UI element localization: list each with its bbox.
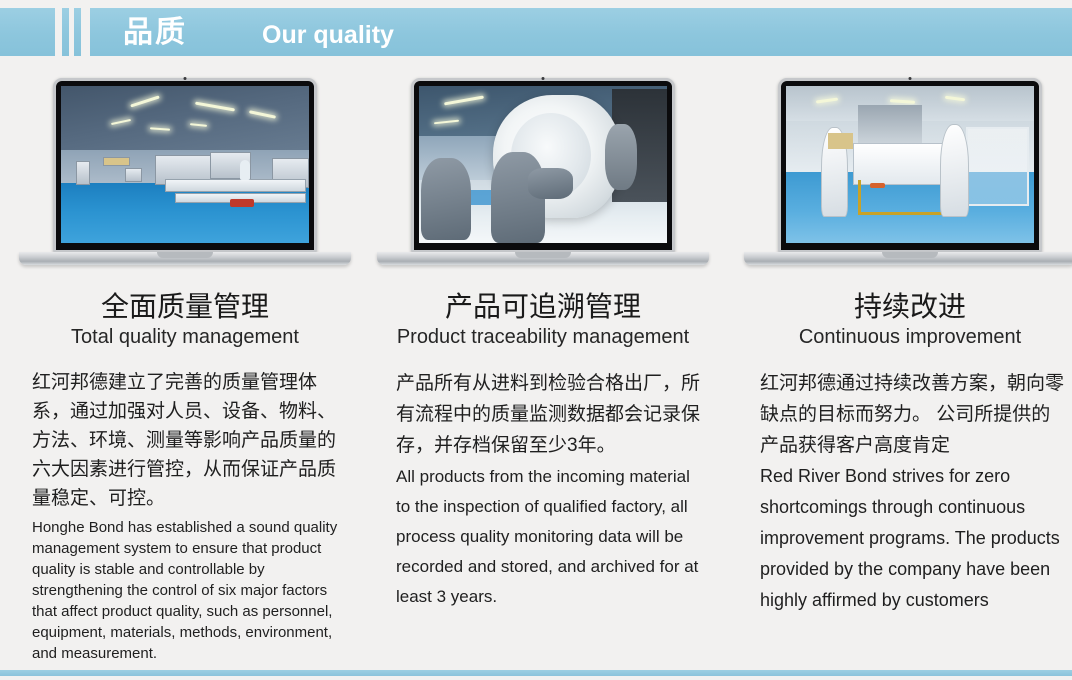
card-body-english-3: Red River Bond strives for zero shortcom…	[748, 461, 1072, 616]
card-title-english-2: Product traceability management	[376, 324, 710, 350]
laptop-base-2	[377, 252, 709, 265]
photo-cleanroom-production-line	[61, 86, 309, 243]
bottom-accent-strip	[0, 670, 1072, 676]
laptop-notch-3	[882, 252, 938, 258]
header-accent-block-left	[0, 8, 55, 56]
photo-cleanroom-workers-machine	[786, 86, 1034, 243]
quality-card-total-quality-management: 全面质量管理 Total quality management 红河邦德建立了完…	[18, 78, 352, 664]
header-accent-bar-1	[62, 8, 69, 56]
card-body-chinese-1: 红河邦德建立了完善的质量管理体系，通过加强对人员、设备、物料、方法、环境、测量等…	[18, 368, 352, 513]
quality-card-continuous-improvement: 持续改进 Continuous improvement 红河邦德通过持续改善方案…	[748, 78, 1072, 616]
quality-card-product-traceability: 产品可追溯管理 Product traceability management …	[376, 78, 710, 612]
laptop-camera-icon-1	[184, 77, 187, 80]
card-title-english-1: Total quality management	[18, 324, 352, 350]
laptop-notch-1	[157, 252, 213, 258]
laptop-camera-icon-3	[909, 77, 912, 80]
card-title-chinese-3: 持续改进	[748, 290, 1072, 324]
laptop-base-3	[744, 252, 1072, 265]
card-body-chinese-3: 红河邦德通过持续改善方案，朝向零缺点的目标而努力。 公司所提供的产品获得客户高度…	[748, 368, 1072, 461]
card-body-english-1: Honghe Bond has established a sound qual…	[18, 517, 352, 664]
laptop-lid-2	[411, 78, 675, 253]
header-main-bar	[90, 8, 1072, 56]
laptop-screen-3	[786, 86, 1034, 243]
header-title-chinese: 品质	[123, 15, 187, 51]
card-title-chinese-1: 全面质量管理	[18, 290, 352, 324]
laptop-notch-2	[515, 252, 571, 258]
laptop-lid-1	[53, 78, 317, 253]
laptop-screen-2	[419, 86, 667, 243]
photo-workers-handling-film-cylinder	[419, 86, 667, 243]
laptop-mockup-2	[376, 78, 710, 278]
laptop-screen-1	[61, 86, 309, 243]
card-body-chinese-2: 产品所有从进料到检验合格出厂，所有流程中的质量监测数据都会记录保存，并存档保留至…	[376, 368, 710, 461]
card-title-chinese-2: 产品可追溯管理	[376, 290, 710, 324]
header-accent-bar-2	[74, 8, 81, 56]
laptop-base-1	[19, 252, 351, 265]
laptop-lid-3	[778, 78, 1042, 253]
card-title-english-3: Continuous improvement	[748, 324, 1072, 350]
header-title-english: Our quality	[262, 20, 394, 50]
laptop-camera-icon-2	[542, 77, 545, 80]
slide-header: 品质 Our quality	[0, 8, 1072, 56]
laptop-mockup-3	[748, 78, 1072, 278]
card-body-english-2: All products from the incoming material …	[376, 462, 710, 612]
laptop-mockup-1	[18, 78, 352, 278]
